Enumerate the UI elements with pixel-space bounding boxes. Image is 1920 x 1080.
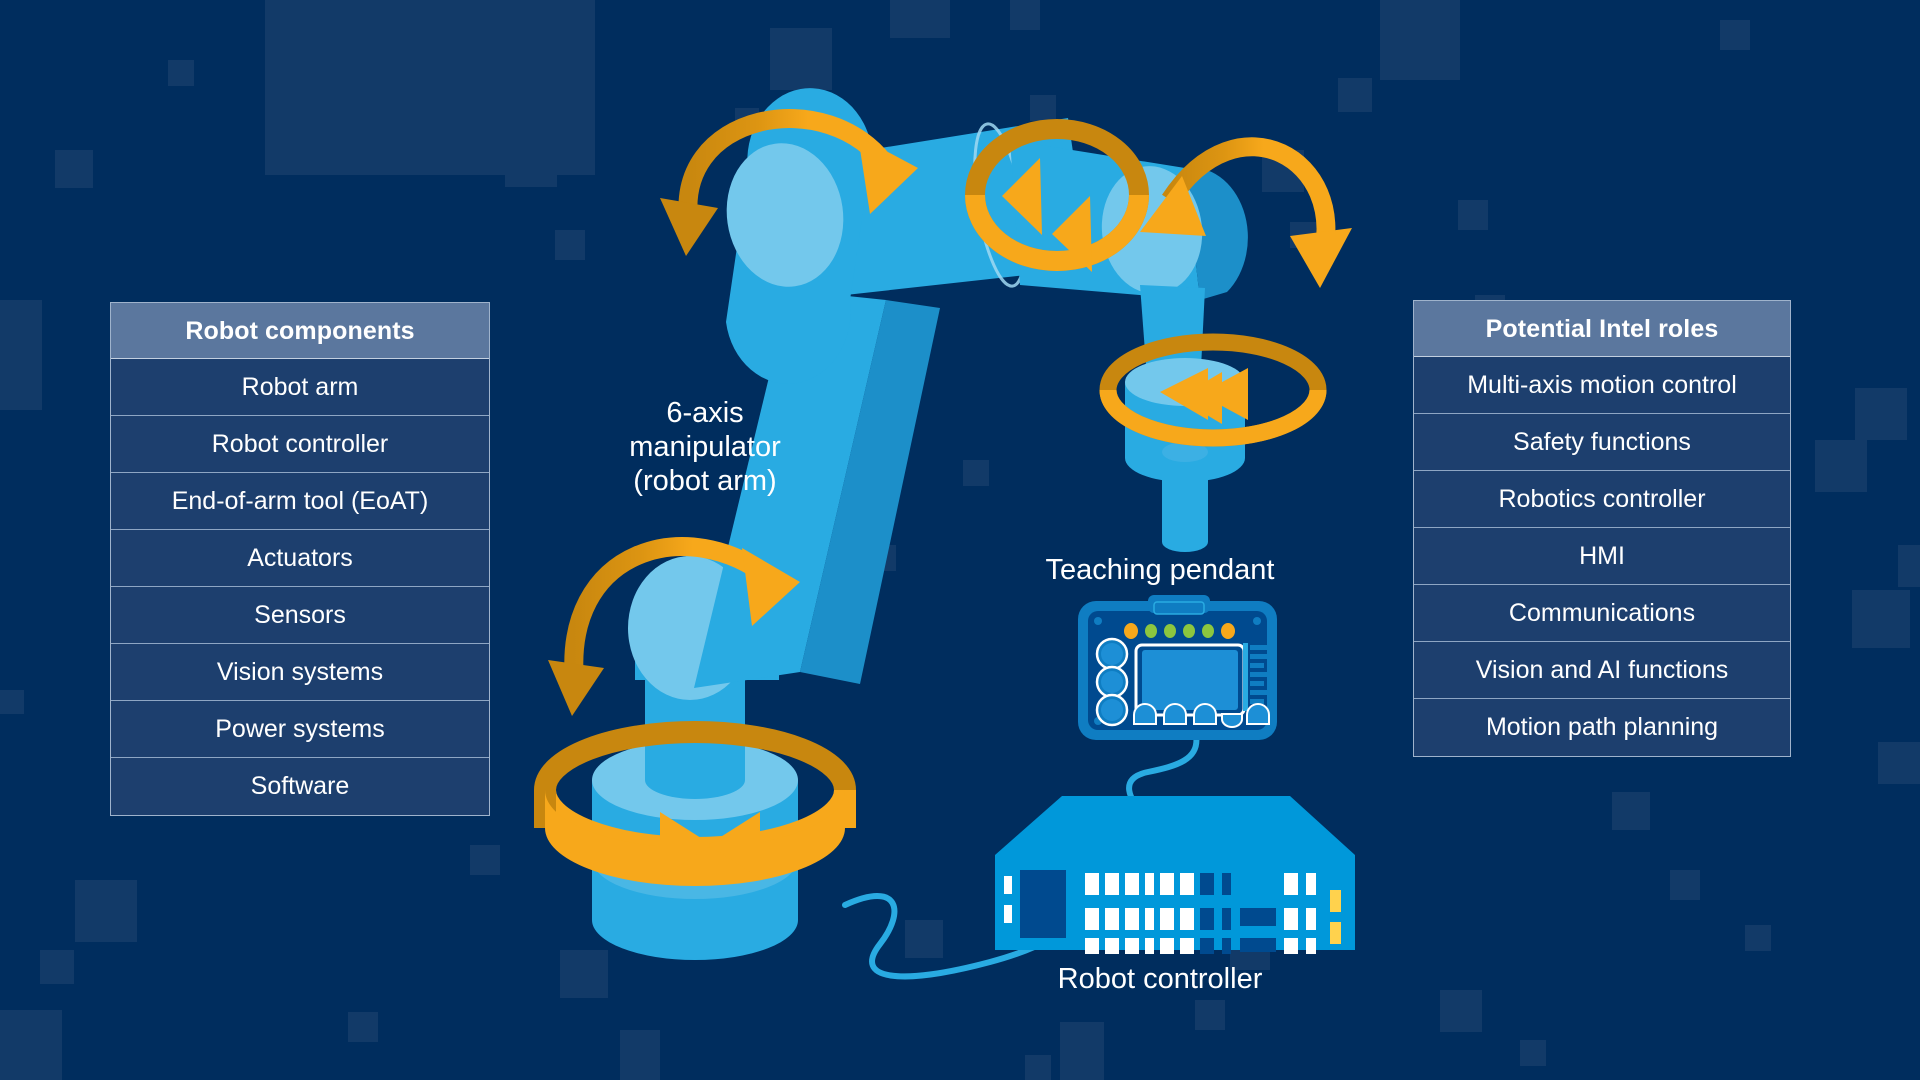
table-row: Software	[111, 758, 489, 815]
robot-components-table-header: Robot components	[111, 303, 489, 359]
robot-controller-caption: Robot controller	[995, 962, 1325, 996]
table-row: Robotics controller	[1414, 471, 1790, 528]
table-row: End-of-arm tool (EoAT)	[111, 473, 489, 530]
table-row: Sensors	[111, 587, 489, 644]
table-row: Multi-axis motion control	[1414, 357, 1790, 414]
table-row: Actuators	[111, 530, 489, 587]
table-row: Vision and AI functions	[1414, 642, 1790, 699]
diagram-canvas: Robot components Robot arm Robot control…	[0, 0, 1920, 1080]
table-row: Power systems	[111, 701, 489, 758]
table-row: HMI	[1414, 528, 1790, 585]
table-row: Robot controller	[111, 416, 489, 473]
table-row: Communications	[1414, 585, 1790, 642]
potential-intel-roles-table: Potential Intel roles Multi-axis motion …	[1413, 300, 1791, 757]
table-row: Safety functions	[1414, 414, 1790, 471]
manipulator-caption: 6-axis manipulator (robot arm)	[560, 396, 850, 498]
teaching-pendant-caption: Teaching pendant	[995, 553, 1325, 587]
table-row: Motion path planning	[1414, 699, 1790, 756]
table-row: Vision systems	[111, 644, 489, 701]
robot-components-table: Robot components Robot arm Robot control…	[110, 302, 490, 816]
robot-controller-chassis	[995, 796, 1355, 954]
potential-intel-roles-table-header: Potential Intel roles	[1414, 301, 1790, 357]
table-row: Robot arm	[111, 359, 489, 416]
teaching-pendant	[1078, 595, 1277, 740]
